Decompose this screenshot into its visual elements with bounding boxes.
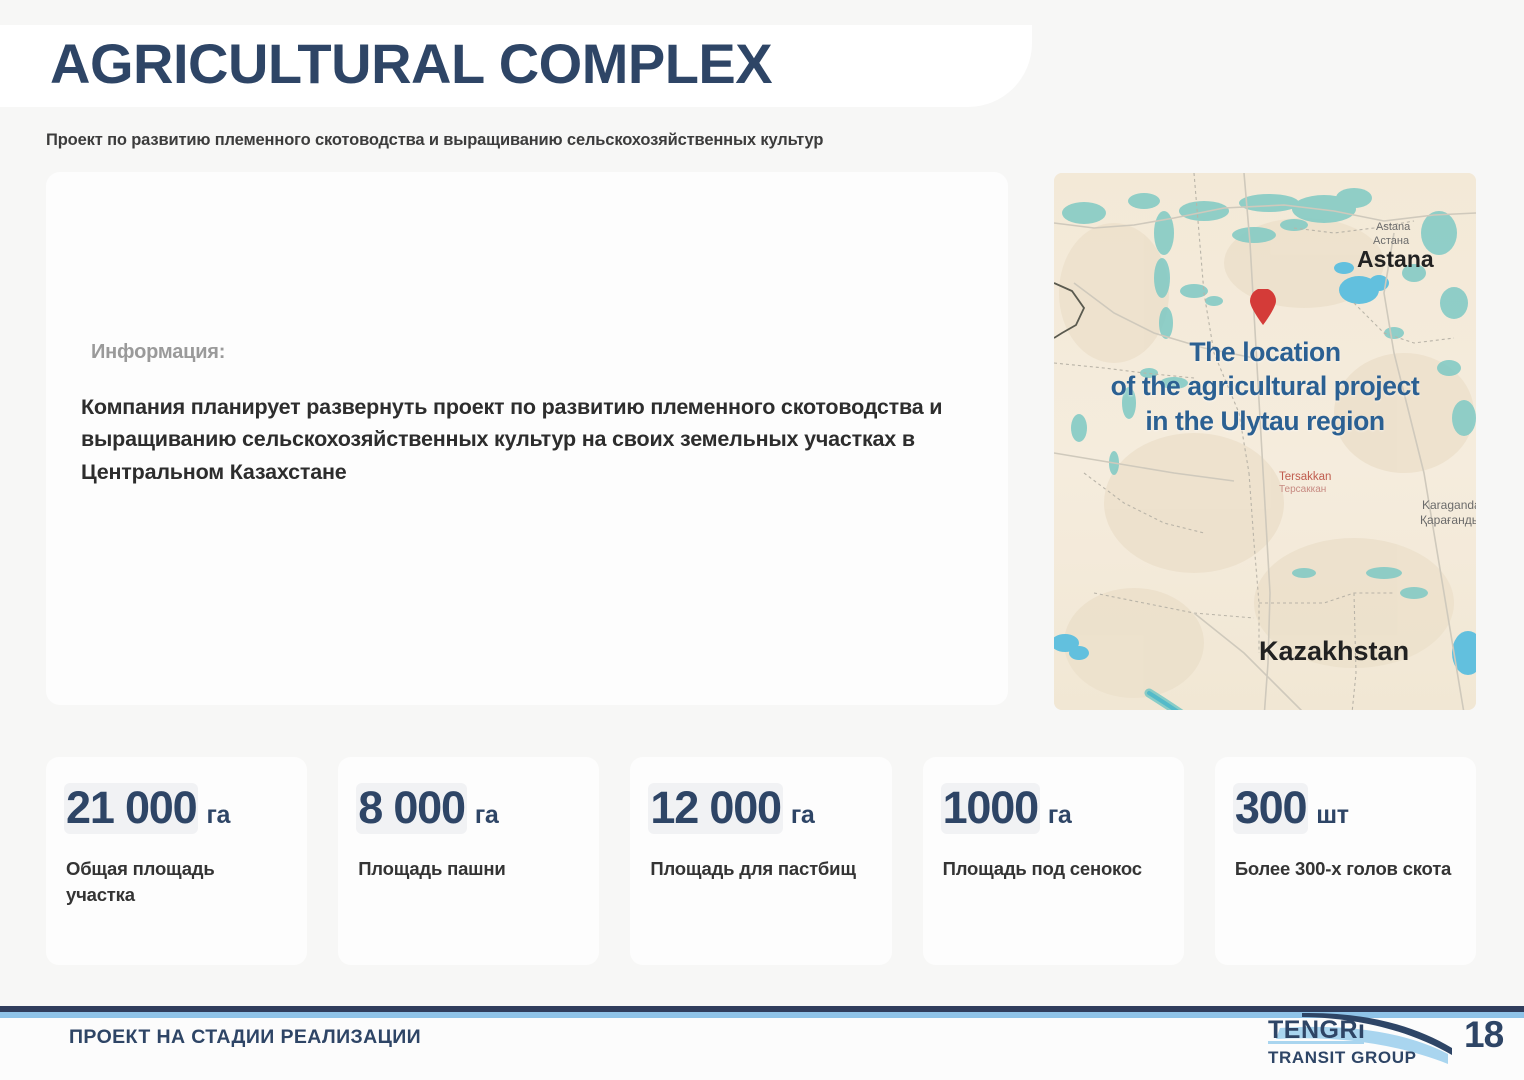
stat-unit: га (206, 803, 230, 828)
stat-unit: га (1048, 803, 1072, 828)
stat-card-livestock-count: 300 шт Более 300-х голов скота (1215, 757, 1476, 965)
info-body-text: Компания планирует развернуть проект по … (81, 391, 1001, 488)
stat-description: Общая площадь участка (66, 856, 287, 907)
svg-text:TENGRi: TENGRi (1268, 1016, 1365, 1044)
stat-unit: га (475, 803, 499, 828)
map-caption-line-2: of the agricultural project (1054, 369, 1476, 403)
page-number: 18 (1464, 1016, 1503, 1053)
stat-unit: га (791, 803, 815, 828)
tengri-transit-group-logo: TENGRi TRANSIT GROUP (1262, 1008, 1452, 1070)
stat-card-total-area: 21 000 га Общая площадь участка (46, 757, 307, 965)
stat-description: Площадь под сенокос (943, 856, 1164, 882)
stat-number: 300 (1233, 783, 1308, 834)
map-pin-icon (1250, 289, 1276, 325)
map-caption-line-1: The location (1054, 335, 1476, 369)
map-card[interactable]: Astana Астана Astana Tersakkan Терсаккан… (1054, 173, 1476, 710)
info-card: Информация: Компания планирует развернут… (46, 172, 1008, 705)
stat-number: 21 000 (64, 783, 198, 834)
map-caption: The location of the agricultural project… (1054, 335, 1476, 438)
stat-number: 12 000 (648, 783, 782, 834)
stat-description: Более 300-х голов скота (1235, 856, 1456, 882)
stat-unit: шт (1316, 803, 1348, 828)
stat-description: Площадь для пастбищ (650, 856, 871, 882)
stat-description: Площадь пашни (358, 856, 579, 882)
stat-value: 21 000 га (66, 783, 287, 834)
map-caption-line-3: in the Ulytau region (1054, 404, 1476, 438)
stat-number: 1000 (941, 783, 1040, 834)
page-subtitle: Проект по развитию племенного скотоводст… (46, 131, 823, 150)
stat-card-arable-area: 8 000 га Площадь пашни (338, 757, 599, 965)
stat-card-pasture-area: 12 000 га Площадь для пастбищ (630, 757, 891, 965)
svg-text:TRANSIT GROUP: TRANSIT GROUP (1268, 1048, 1417, 1067)
stat-number: 8 000 (356, 783, 467, 834)
stat-value: 300 шт (1235, 783, 1456, 834)
stat-value: 12 000 га (650, 783, 871, 834)
stat-value: 1000 га (943, 783, 1164, 834)
stat-value: 8 000 га (358, 783, 579, 834)
map-graphic (1054, 173, 1476, 710)
page-title: AGRICULTURAL COMPLEX (50, 36, 772, 92)
stats-row: 21 000 га Общая площадь участка 8 000 га… (46, 757, 1476, 965)
stat-card-hayfield-area: 1000 га Площадь под сенокос (923, 757, 1184, 965)
info-label: Информация: (91, 341, 225, 364)
footer-status-text: ПРОЕКТ НА СТАДИИ РЕАЛИЗАЦИИ (69, 1026, 421, 1049)
